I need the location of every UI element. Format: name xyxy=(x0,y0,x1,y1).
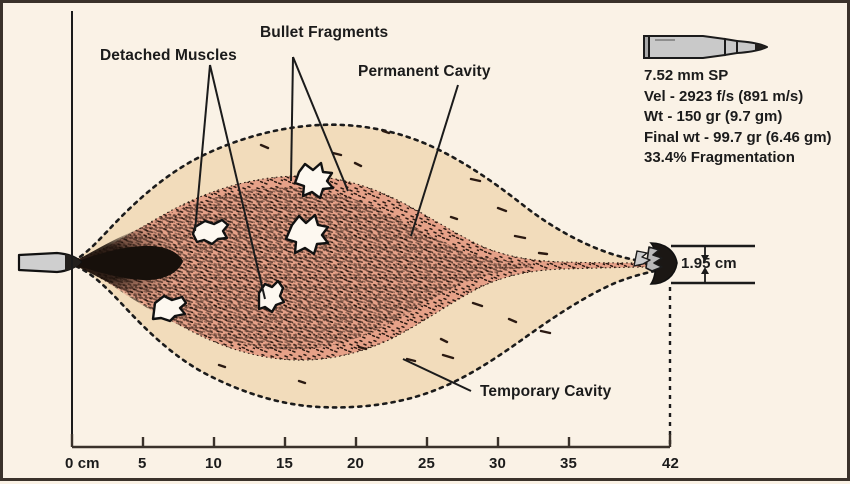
rifle-cartridge-icon xyxy=(644,36,767,58)
spec-velocity: Vel - 2923 f/s (891 m/s) xyxy=(644,87,832,108)
label-exit-diameter: 1.95 cm xyxy=(681,255,737,272)
cartridge-spec-block: 7.52 mm SP Vel - 2923 f/s (891 m/s) Wt -… xyxy=(644,66,832,169)
axis-label-20: 20 xyxy=(347,455,364,472)
axis-label-0: 0 cm xyxy=(65,455,100,472)
label-bullet-fragments: Bullet Fragments xyxy=(260,24,388,42)
depth-axis xyxy=(72,434,670,447)
spec-fragmentation: 33.4% Fragmentation xyxy=(644,148,832,169)
axis-label-42: 42 xyxy=(662,455,679,472)
axis-label-5: 5 xyxy=(138,455,146,472)
spec-caliber: 7.52 mm SP xyxy=(644,66,832,87)
label-detached-muscles: Detached Muscles xyxy=(100,47,237,65)
axis-label-15: 15 xyxy=(276,455,293,472)
axis-label-10: 10 xyxy=(205,455,222,472)
mushroomed-bullet-icon xyxy=(634,243,677,284)
label-temporary-cavity: Temporary Cavity xyxy=(480,383,611,401)
spec-weight: Wt - 150 gr (9.7 gm) xyxy=(644,107,832,128)
axis-label-25: 25 xyxy=(418,455,435,472)
axis-label-30: 30 xyxy=(489,455,506,472)
wound-profile-figure: Detached Muscles Bullet Fragments Perman… xyxy=(0,0,850,481)
axis-label-35: 35 xyxy=(560,455,577,472)
spec-final-weight: Final wt - 99.7 gr (6.46 gm) xyxy=(644,128,832,149)
label-permanent-cavity: Permanent Cavity xyxy=(358,63,491,81)
